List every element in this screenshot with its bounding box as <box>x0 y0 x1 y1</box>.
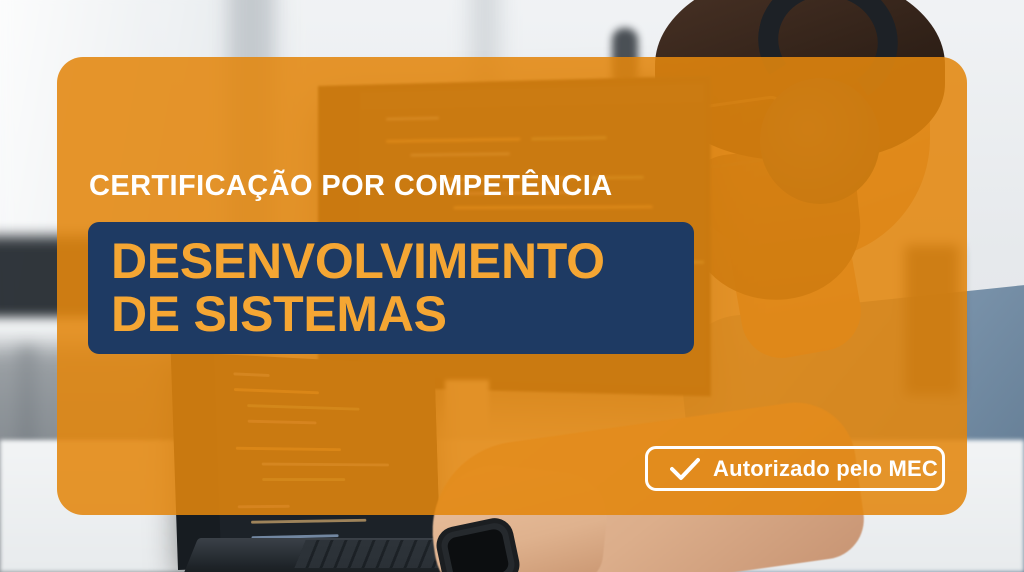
page-title: DESENVOLVIMENTO DE SISTEMAS <box>111 235 605 341</box>
mec-badge-label: Autorizado pelo MEC <box>713 456 938 482</box>
promo-banner: CERTIFICAÇÃO POR COMPETÊNCIA DESENVOLVIM… <box>0 0 1024 572</box>
banner-subtitle: CERTIFICAÇÃO POR COMPETÊNCIA <box>89 172 613 201</box>
smartwatch-face <box>446 528 510 572</box>
check-icon <box>670 457 700 481</box>
mec-authorization-badge[interactable]: Autorizado pelo MEC <box>645 446 945 491</box>
title-highlight-box: DESENVOLVIMENTO DE SISTEMAS <box>88 222 694 354</box>
